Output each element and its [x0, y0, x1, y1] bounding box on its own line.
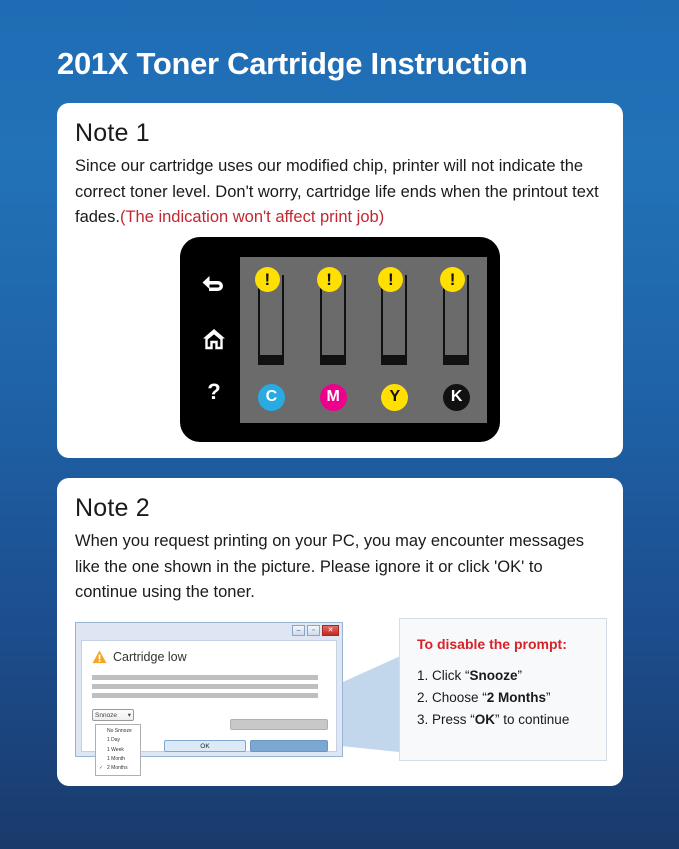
maximize-button[interactable]: ▫ [307, 625, 320, 636]
instruction-step: 2. Choose “2 Months” [417, 687, 606, 709]
dialog-body: Cartridge low Snnoze ▾ No Snnoze1 Day1 W… [81, 640, 337, 752]
dialog-text-placeholder [92, 675, 318, 680]
warning-icon: ! [378, 267, 403, 292]
step-emphasis: OK [475, 712, 495, 727]
close-button[interactable]: ✕ [322, 625, 339, 636]
snooze-option-list[interactable]: No Snnoze1 Day1 Week1 Month2 Months [95, 724, 141, 776]
prompt-figure: – ▫ ✕ Cartridge low Snnoze [75, 618, 607, 761]
minimize-button[interactable]: – [292, 625, 305, 636]
home-icon[interactable] [201, 327, 227, 350]
chevron-down-icon: ▾ [128, 711, 131, 719]
svg-text:?: ? [207, 380, 220, 404]
printer-screen: !C!M!Y!K [240, 257, 487, 423]
warning-glyph: ! [326, 271, 332, 288]
dialog-field-placeholder [230, 719, 328, 730]
toner-badge-cyan: C [258, 384, 285, 411]
toner-level-fill [445, 355, 467, 362]
instruction-step: 3. Press “OK” to continue [417, 709, 606, 731]
warning-triangle-icon [92, 650, 107, 664]
help-icon[interactable]: ? [201, 380, 227, 404]
note1-card: Note 1 Since our cartridge uses our modi… [57, 103, 623, 458]
dialog-heading: Cartridge low [113, 650, 187, 664]
note2-body: When you request printing on your PC, yo… [75, 529, 605, 606]
step-emphasis: 2 Months [487, 690, 546, 705]
step-text: Press “ [432, 712, 475, 727]
printer-key-column: ? [190, 260, 238, 420]
printer-panel-illustration: ? !C!M!Y!K [180, 237, 500, 442]
toner-column-cyan: !C [251, 267, 291, 413]
step-text-tail: ” [518, 668, 523, 683]
step-emphasis: Snooze [470, 668, 518, 683]
dialog-text-placeholder [92, 684, 318, 689]
step-number: 1. [417, 668, 432, 683]
instruction-step: 1. Click “Snooze” [417, 665, 606, 687]
toner-level-fill [260, 355, 282, 362]
snooze-option[interactable]: 1 Week [96, 746, 140, 755]
toner-column-yellow: !Y [374, 267, 414, 413]
toner-column-magenta: !M [313, 267, 353, 413]
warning-icon: ! [317, 267, 342, 292]
instruction-step-list: 1. Click “Snooze”2. Choose “2 Months”3. … [417, 665, 606, 731]
toner-level-fill [322, 355, 344, 362]
toner-column-black: !K [436, 267, 476, 413]
step-text-tail: ” [546, 690, 551, 705]
step-text-tail: ” to continue [495, 712, 569, 727]
toner-badge-yellow: Y [381, 384, 408, 411]
dialog-titlebar: – ▫ ✕ [76, 623, 342, 638]
instruction-title: To disable the prompt: [417, 636, 606, 652]
warning-glyph: ! [450, 271, 456, 288]
snooze-option[interactable]: 1 Day [96, 736, 140, 745]
back-arrow-icon[interactable] [201, 275, 227, 297]
warning-glyph: ! [265, 271, 271, 288]
step-text: Choose “ [432, 690, 487, 705]
instruction-panel: To disable the prompt: 1. Click “Snooze”… [399, 618, 607, 761]
printer-bezel: ? !C!M!Y!K [180, 237, 500, 442]
warning-icon: ! [255, 267, 280, 292]
step-text: Click “ [432, 668, 470, 683]
note2-heading: Note 2 [75, 494, 623, 523]
toner-badge-black: K [443, 384, 470, 411]
dialog-header: Cartridge low [92, 650, 336, 664]
toner-badge-magenta: M [320, 384, 347, 411]
step-number: 2. [417, 690, 432, 705]
note1-body-highlight: (The indication won't affect print job) [120, 208, 384, 226]
note1-body: Since our cartridge uses our modified ch… [75, 154, 605, 231]
snooze-dropdown-label: Snnoze [95, 712, 117, 719]
cartridge-low-dialog: – ▫ ✕ Cartridge low Snnoze [75, 622, 343, 757]
snooze-option[interactable]: 2 Months [96, 764, 140, 773]
toner-level-fill [383, 355, 405, 362]
step-number: 3. [417, 712, 432, 727]
note2-card: Note 2 When you request printing on your… [57, 478, 623, 786]
snooze-dropdown[interactable]: Snnoze ▾ [92, 709, 134, 721]
snooze-option[interactable]: 1 Month [96, 755, 140, 764]
page-title: 201X Toner Cartridge Instruction [57, 46, 527, 82]
dialog-text-placeholder [92, 693, 318, 698]
ok-button[interactable]: OK [164, 740, 246, 752]
dialog-secondary-button[interactable] [250, 740, 328, 752]
note1-heading: Note 1 [75, 119, 623, 148]
warning-icon: ! [440, 267, 465, 292]
warning-glyph: ! [388, 271, 394, 288]
snooze-option[interactable]: No Snnoze [96, 727, 140, 736]
